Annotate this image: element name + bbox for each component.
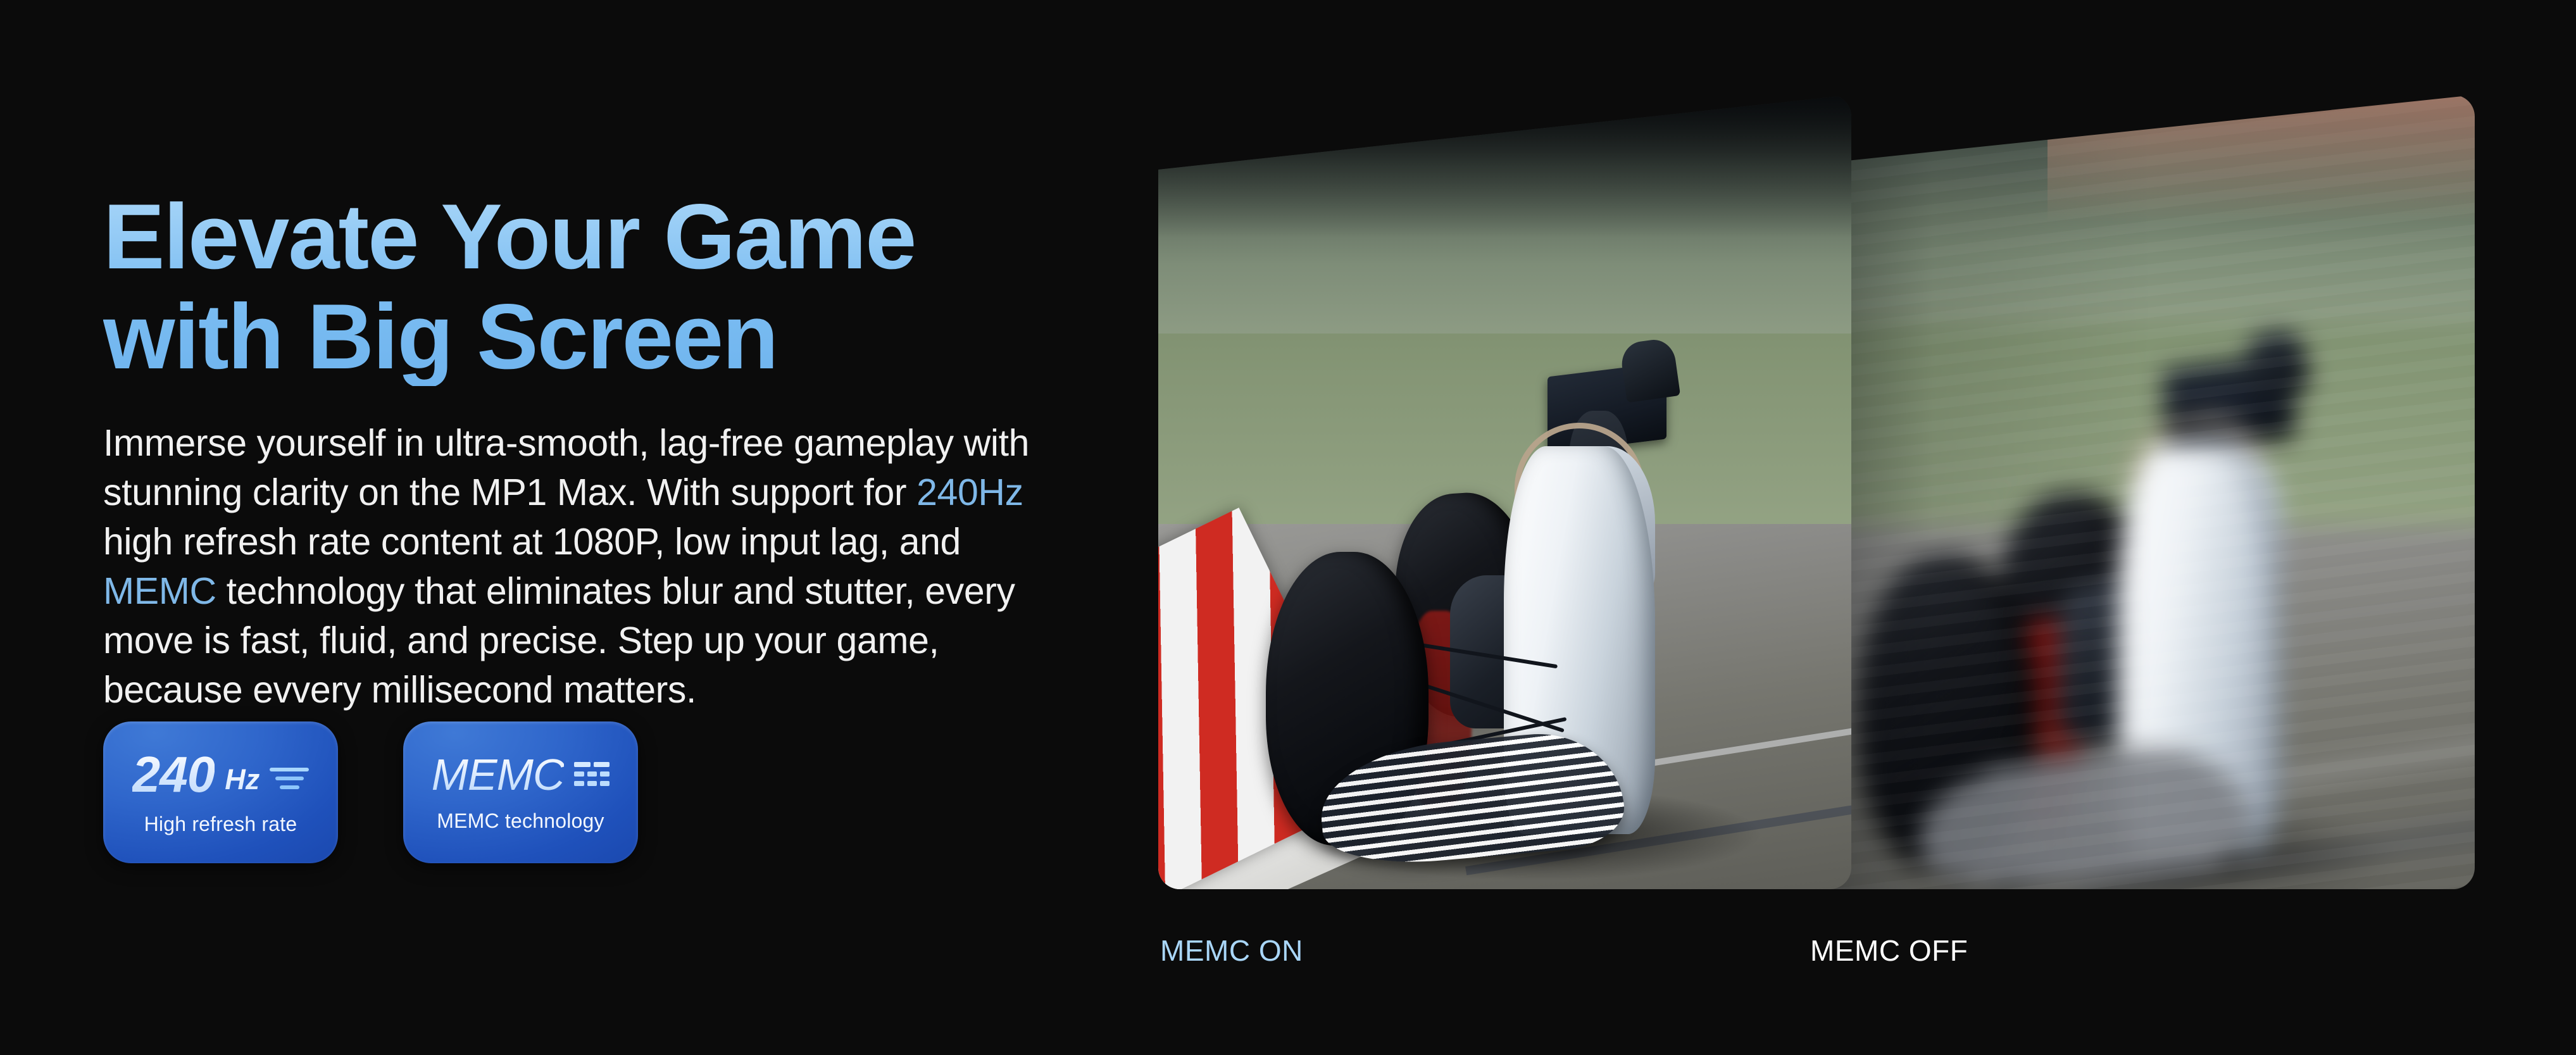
hero-copy: Elevate Your Game with Big Screen Immers… bbox=[103, 187, 1072, 715]
badge-refresh-rate-value: 240 bbox=[132, 749, 215, 800]
badge-refresh-rate-unit: Hz bbox=[225, 765, 259, 794]
description-part-1: Immerse yourself in ultra-smooth, lag-fr… bbox=[103, 422, 1029, 513]
badge-refresh-rate[interactable]: 240 Hz High refresh rate bbox=[103, 721, 338, 863]
hero-description: Immerse yourself in ultra-smooth, lag-fr… bbox=[103, 419, 1053, 715]
badge-refresh-rate-main: 240 Hz bbox=[132, 749, 309, 800]
memc-grid-icon bbox=[574, 762, 610, 792]
caption-memc-off: MEMC OFF bbox=[1810, 933, 1968, 968]
comparison-captions: MEMC ON MEMC OFF bbox=[1130, 933, 2497, 990]
badge-refresh-rate-caption: High refresh rate bbox=[144, 813, 297, 836]
caption-memc-on: MEMC ON bbox=[1160, 933, 1303, 968]
f1-car-sharp bbox=[1255, 270, 1796, 858]
description-part-2: high refresh rate content at 1080P, low … bbox=[103, 521, 961, 563]
badge-memc[interactable]: MEMC MEMC technology bbox=[403, 721, 638, 863]
memc-comparison bbox=[1130, 95, 2497, 937]
memc-on-image bbox=[1158, 95, 1851, 889]
accent-memc: MEMC bbox=[103, 570, 216, 612]
page-title: Elevate Your Game with Big Screen bbox=[103, 187, 1072, 386]
badge-memc-main: MEMC bbox=[432, 752, 610, 797]
badge-memc-caption: MEMC technology bbox=[437, 809, 604, 833]
badge-memc-value: MEMC bbox=[432, 752, 565, 797]
accent-240hz: 240Hz bbox=[916, 471, 1023, 513]
feature-badges: 240 Hz High refresh rate MEMC MEMC techn… bbox=[103, 721, 638, 863]
speed-lines-icon bbox=[270, 764, 309, 793]
description-part-3: technology that eliminates blur and stut… bbox=[103, 570, 1015, 711]
memc-off-image bbox=[1763, 95, 2475, 889]
